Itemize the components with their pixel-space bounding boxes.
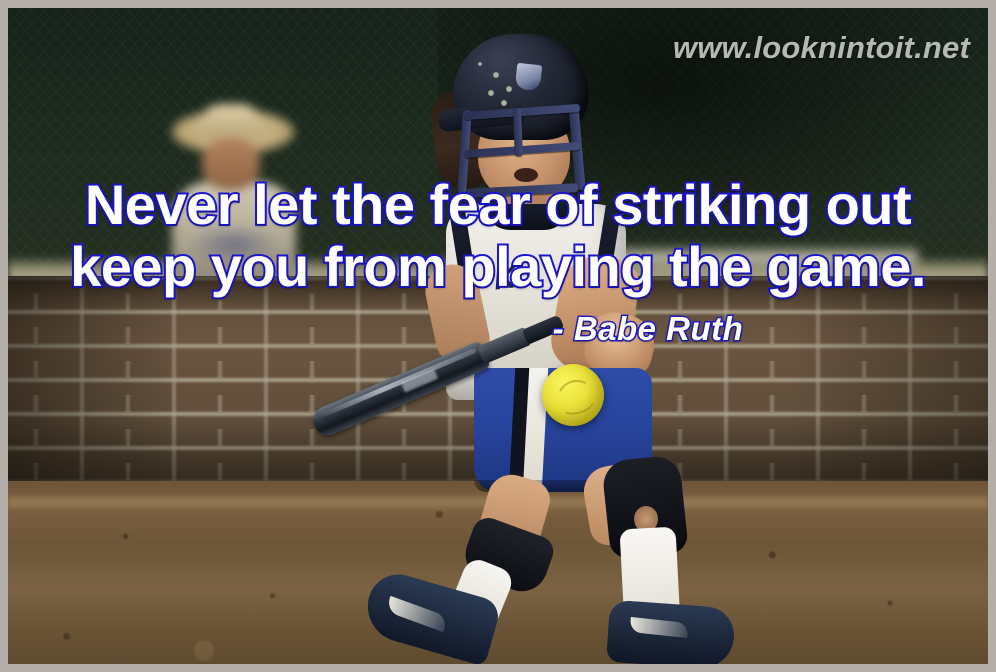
quote-poster: Kni xyxy=(0,0,996,672)
spectator-straw-hat-crown xyxy=(198,104,264,138)
mask-bar-top xyxy=(464,104,580,120)
bat-grip xyxy=(522,314,565,344)
spectator-face xyxy=(202,138,260,190)
helmet-sticker-5-icon xyxy=(478,62,482,66)
helmet-sticker-1-icon xyxy=(493,72,499,78)
jersey-collar xyxy=(484,204,570,230)
blurred-spectator xyxy=(158,104,308,279)
spectator-shirt-detail xyxy=(188,224,280,264)
helmet-face-mask xyxy=(460,102,588,200)
helmet-sticker-3-icon xyxy=(488,90,494,96)
mask-bar-bottom xyxy=(466,183,578,198)
mask-bar-center-vertical xyxy=(513,108,523,156)
photo-canvas: Kni xyxy=(8,8,988,664)
helmet-sticker-2-icon xyxy=(506,86,512,92)
site-watermark: www.looknintoit.net xyxy=(673,30,970,66)
